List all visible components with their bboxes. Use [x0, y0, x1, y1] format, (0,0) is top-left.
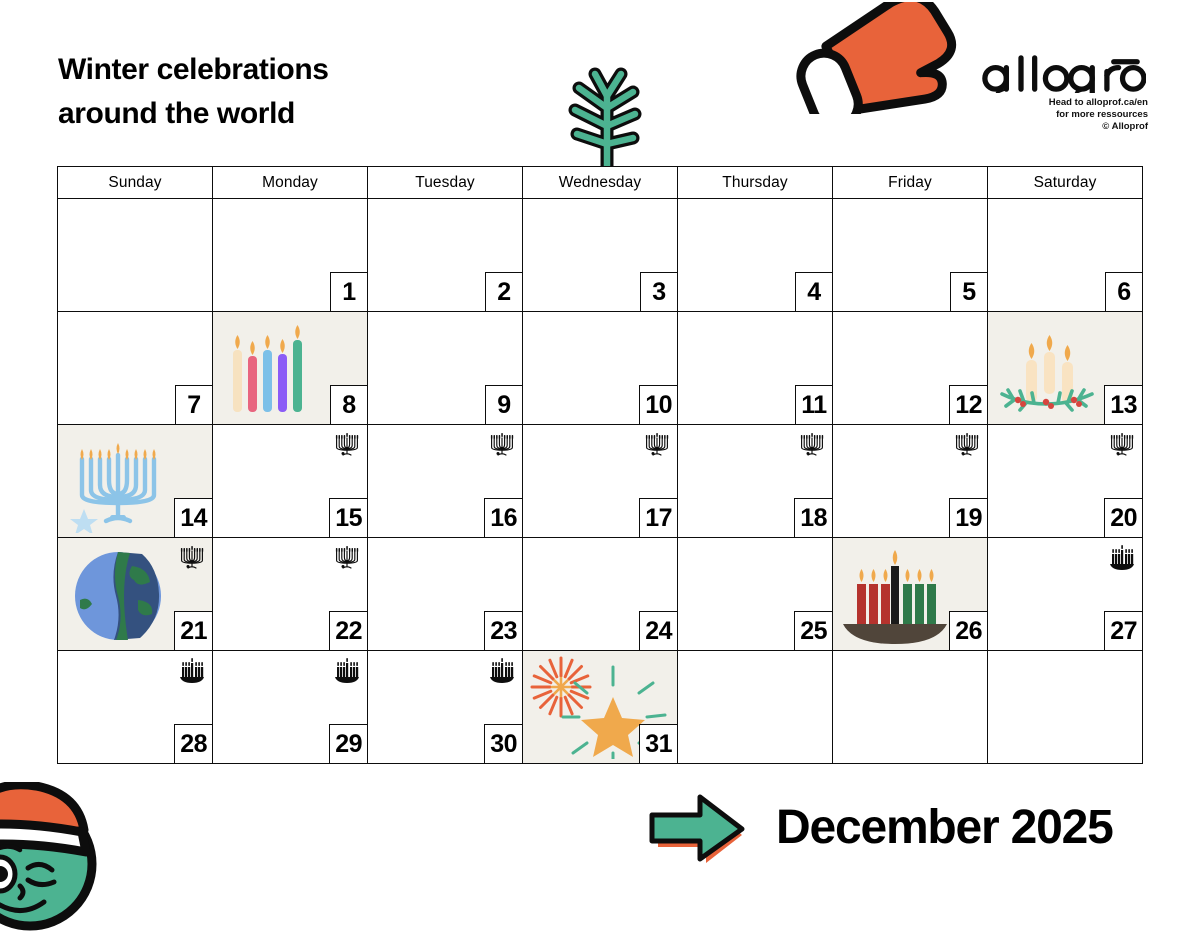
date-number: 24 [639, 611, 678, 651]
calendar-day-cell-empty [833, 651, 988, 764]
kinara-illustration [837, 542, 955, 646]
calendar-day-cell-11[interactable]: 11 [678, 312, 833, 425]
menorah-icon [954, 429, 980, 459]
date-number: 7 [175, 385, 213, 425]
calendar-day-cell-8[interactable]: 8 [213, 312, 368, 425]
calendar-body: 1234567891011121314151617181920212223242… [58, 199, 1143, 764]
calendar-day-cell-5[interactable]: 5 [833, 199, 988, 312]
weekday-header-row: Sunday Monday Tuesday Wednesday Thursday… [58, 167, 1143, 199]
calendar-week-row: 123456 [58, 199, 1143, 312]
alloprof-logo: Head to alloprof.ca/en for more ressourc… [978, 52, 1148, 133]
calendar-day-cell-13[interactable]: 13 [988, 312, 1143, 425]
date-number: 10 [639, 385, 678, 425]
menorah-icon [334, 429, 360, 459]
calendar-day-cell-27[interactable]: 27 [988, 538, 1143, 651]
page-header: Winter celebrations around the world [0, 0, 1200, 165]
earth-illustration [62, 542, 180, 646]
calendar-day-cell-empty [988, 651, 1143, 764]
calendar-day-cell-21[interactable]: 21 [58, 538, 213, 651]
date-number: 30 [484, 724, 523, 764]
calendar-day-cell-24[interactable]: 24 [523, 538, 678, 651]
calendar-day-cell-19[interactable]: 19 [833, 425, 988, 538]
month-label: December 2025 [776, 800, 1113, 855]
mitten-icon [782, 2, 972, 114]
date-number: 12 [949, 385, 988, 425]
calendar-day-cell-empty [678, 651, 833, 764]
date-number: 29 [329, 724, 368, 764]
weekday-header-wednesday: Wednesday [523, 167, 678, 199]
calendar-day-cell-31[interactable]: 31 [523, 651, 678, 764]
date-number: 26 [949, 611, 988, 651]
kinara-icon [179, 655, 205, 685]
date-number: 28 [174, 724, 213, 764]
weekday-header-tuesday: Tuesday [368, 167, 523, 199]
right-arrow-icon [648, 789, 752, 865]
calendar-day-cell-29[interactable]: 29 [213, 651, 368, 764]
calendar-day-cell-26[interactable]: 26 [833, 538, 988, 651]
weekday-header-saturday: Saturday [988, 167, 1143, 199]
menorah-icon [799, 429, 825, 459]
calendar-day-cell-14[interactable]: 14 [58, 425, 213, 538]
logo-tagline: Head to alloprof.ca/en for more ressourc… [978, 97, 1148, 133]
date-number: 3 [640, 272, 678, 312]
date-number: 22 [329, 611, 368, 651]
calendar-day-cell-empty [58, 199, 213, 312]
date-number: 9 [485, 385, 523, 425]
calendar-day-cell-20[interactable]: 20 [988, 425, 1143, 538]
calendar-day-cell-15[interactable]: 15 [213, 425, 368, 538]
calendar-day-cell-3[interactable]: 3 [523, 199, 678, 312]
weekday-header-sunday: Sunday [58, 167, 213, 199]
date-number: 18 [794, 498, 833, 538]
calendar-day-cell-9[interactable]: 9 [368, 312, 523, 425]
calendar-day-cell-17[interactable]: 17 [523, 425, 678, 538]
menorah-icon [179, 542, 205, 572]
calendar-day-cell-6[interactable]: 6 [988, 199, 1143, 312]
lucia-illustration [992, 316, 1110, 420]
alloprof-wordmark [978, 52, 1146, 93]
calendar-day-cell-23[interactable]: 23 [368, 538, 523, 651]
kinara-icon [489, 655, 515, 685]
menorah-icon [644, 429, 670, 459]
calendar-day-cell-12[interactable]: 12 [833, 312, 988, 425]
mascot-santa-hat-icon [0, 782, 118, 932]
date-number: 20 [1104, 498, 1143, 538]
calendar-day-cell-30[interactable]: 30 [368, 651, 523, 764]
calendar-week-row: 21222324252627 [58, 538, 1143, 651]
calendar-day-cell-25[interactable]: 25 [678, 538, 833, 651]
page-title: Winter celebrations around the world [58, 48, 329, 135]
menorah-illustration [62, 429, 180, 533]
calendar-day-cell-2[interactable]: 2 [368, 199, 523, 312]
calendar-day-cell-4[interactable]: 4 [678, 199, 833, 312]
calendar-day-cell-10[interactable]: 10 [523, 312, 678, 425]
date-number: 8 [330, 385, 368, 425]
weekday-header-thursday: Thursday [678, 167, 833, 199]
date-number: 23 [484, 611, 523, 651]
date-number: 6 [1105, 272, 1143, 312]
date-number: 17 [639, 498, 678, 538]
calendar-day-cell-22[interactable]: 22 [213, 538, 368, 651]
date-number: 15 [329, 498, 368, 538]
date-number: 2 [485, 272, 523, 312]
date-number: 25 [794, 611, 833, 651]
calendar-week-row: 78910111213 [58, 312, 1143, 425]
month-footer: December 2025 [648, 782, 1148, 872]
date-number: 5 [950, 272, 988, 312]
date-number: 31 [639, 724, 678, 764]
calendar-day-cell-28[interactable]: 28 [58, 651, 213, 764]
date-number: 13 [1104, 385, 1143, 425]
menorah-icon [1109, 429, 1135, 459]
calendar-day-cell-18[interactable]: 18 [678, 425, 833, 538]
candles-illustration [217, 316, 335, 420]
calendar-day-cell-7[interactable]: 7 [58, 312, 213, 425]
menorah-icon [489, 429, 515, 459]
calendar-day-cell-1[interactable]: 1 [213, 199, 368, 312]
weekday-header-monday: Monday [213, 167, 368, 199]
date-number: 14 [174, 498, 213, 538]
date-number: 16 [484, 498, 523, 538]
calendar-week-row: 14151617181920 [58, 425, 1143, 538]
weekday-header-friday: Friday [833, 167, 988, 199]
calendar-week-row: 28293031 [58, 651, 1143, 764]
date-number: 4 [795, 272, 833, 312]
calendar-grid: Sunday Monday Tuesday Wednesday Thursday… [57, 166, 1143, 764]
kinara-icon [334, 655, 360, 685]
date-number: 19 [949, 498, 988, 538]
date-number: 11 [795, 385, 833, 425]
date-number: 1 [330, 272, 368, 312]
date-number: 21 [174, 611, 213, 651]
calendar-day-cell-16[interactable]: 16 [368, 425, 523, 538]
pine-sprig-icon [545, 58, 645, 173]
menorah-icon [334, 542, 360, 572]
date-number: 27 [1104, 611, 1143, 651]
kinara-icon [1109, 542, 1135, 572]
